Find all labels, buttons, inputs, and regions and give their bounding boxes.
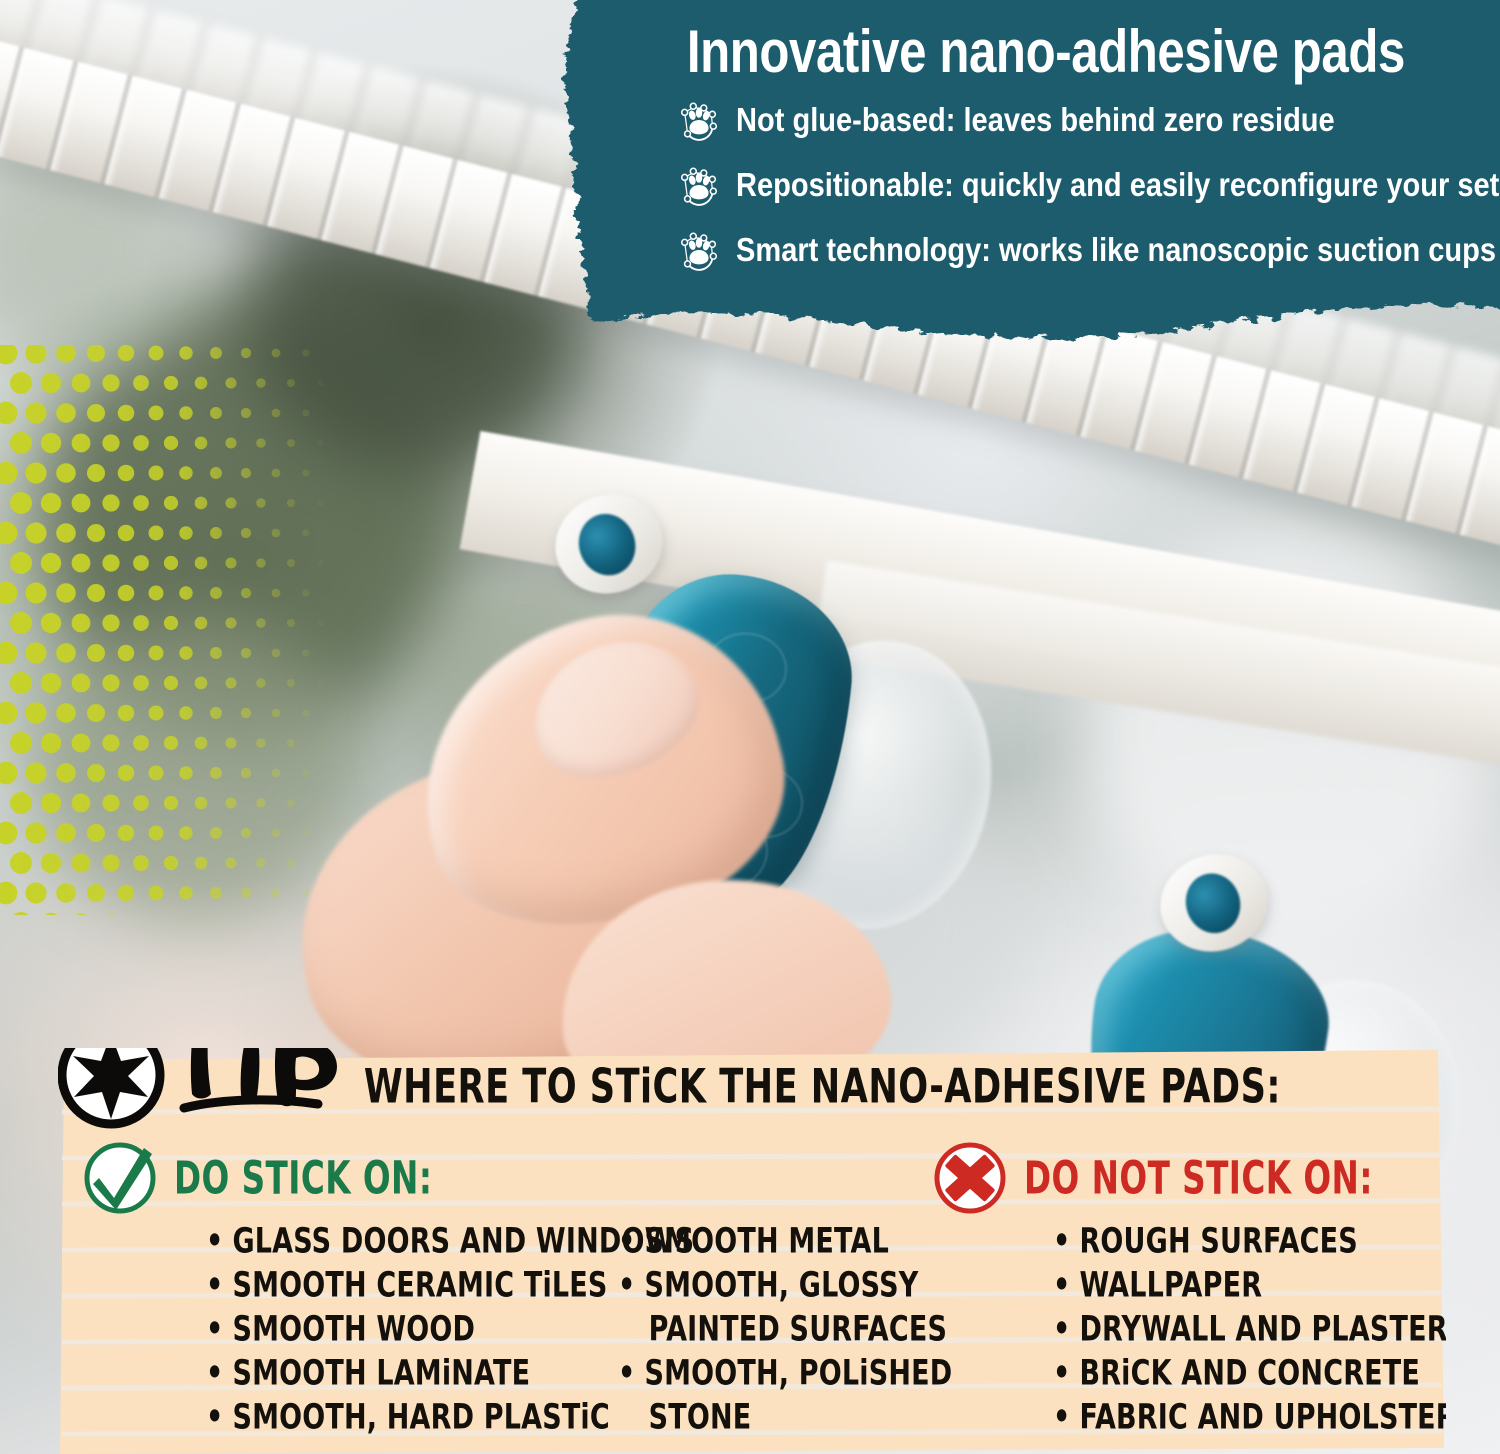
red-x-circle-icon	[930, 1138, 1010, 1218]
feature-item: Not glue-based: leaves behind zero resid…	[678, 99, 1500, 141]
do-not-stick-label: DO NOT STICK ON:	[1024, 1152, 1373, 1205]
page-title: Innovative nano-adhesive pads	[678, 20, 1423, 85]
green-check-circle-icon	[80, 1138, 160, 1218]
list-item-continuation: STONE	[618, 1392, 952, 1443]
list-item-text: WALLPAPER	[1079, 1265, 1262, 1306]
list-item-text: SMOOTH, HARD PLASTiC	[232, 1397, 609, 1438]
feature-item: Repositionable: quickly and easily recon…	[678, 164, 1500, 206]
feature-text: Repositionable: quickly and easily recon…	[736, 167, 1500, 203]
tip-card: WHERE TO STiCK THE NANO-ADHESIVE PADS: D…	[58, 1048, 1446, 1454]
feature-list: Not glue-based: leaves behind zero resid…	[596, 99, 1500, 271]
do-stick-list-column-2: •SMOOTH METAL •SMOOTH, GLOSSY PAINTED SU…	[618, 1220, 989, 1440]
list-item-text: SMOOTH METAL	[644, 1221, 889, 1262]
halftone-dot-pattern	[0, 345, 330, 915]
list-item: •FABRIC AND UPHOLSTERY	[1053, 1392, 1446, 1443]
header-banner: Innovative nano-adhesive pads	[518, 0, 1500, 346]
do-stick-header: DO STICK ON:	[80, 1138, 474, 1218]
list-item-text: SMOOTH WOOD	[232, 1309, 475, 1350]
nano-paw-icon	[678, 164, 720, 206]
list-item-text: BRiCK AND CONCRETE	[1079, 1353, 1420, 1394]
infographic-canvas: Innovative nano-adhesive pads	[0, 0, 1500, 1454]
list-item-text: FABRIC AND UPHOLSTERY	[1079, 1397, 1446, 1438]
list-item-text: SMOOTH, POLiSHED	[644, 1353, 952, 1394]
list-item-text: PAINTED SURFACES	[649, 1309, 948, 1350]
do-not-stick-header: DO NOT STICK ON:	[930, 1138, 1430, 1218]
feature-text: Smart technology: works like nanoscopic …	[736, 232, 1496, 268]
list-item-text: ROUGH SURFACES	[1079, 1221, 1357, 1262]
list-item-text: SMOOTH LAMiNATE	[232, 1353, 530, 1394]
feature-text: Not glue-based: leaves behind zero resid…	[736, 102, 1335, 138]
do-stick-label: DO STICK ON:	[174, 1152, 432, 1205]
tip-label	[168, 1048, 358, 1120]
list-item-text: DRYWALL AND PLASTER	[1079, 1309, 1446, 1350]
do-not-stick-list: •ROUGH SURFACES •WALLPAPER •DRYWALL AND …	[1053, 1220, 1446, 1440]
feature-item: Smart technology: works like nanoscopic …	[678, 229, 1500, 271]
nano-paw-icon	[678, 99, 720, 141]
tip-badge	[58, 1048, 170, 1134]
nano-paw-icon	[678, 229, 720, 271]
list-item-text: SMOOTH, GLOSSY	[644, 1265, 918, 1306]
list-item-text: STONE	[649, 1397, 752, 1438]
list-item-text: SMOOTH CERAMIC TiLES	[232, 1265, 607, 1306]
